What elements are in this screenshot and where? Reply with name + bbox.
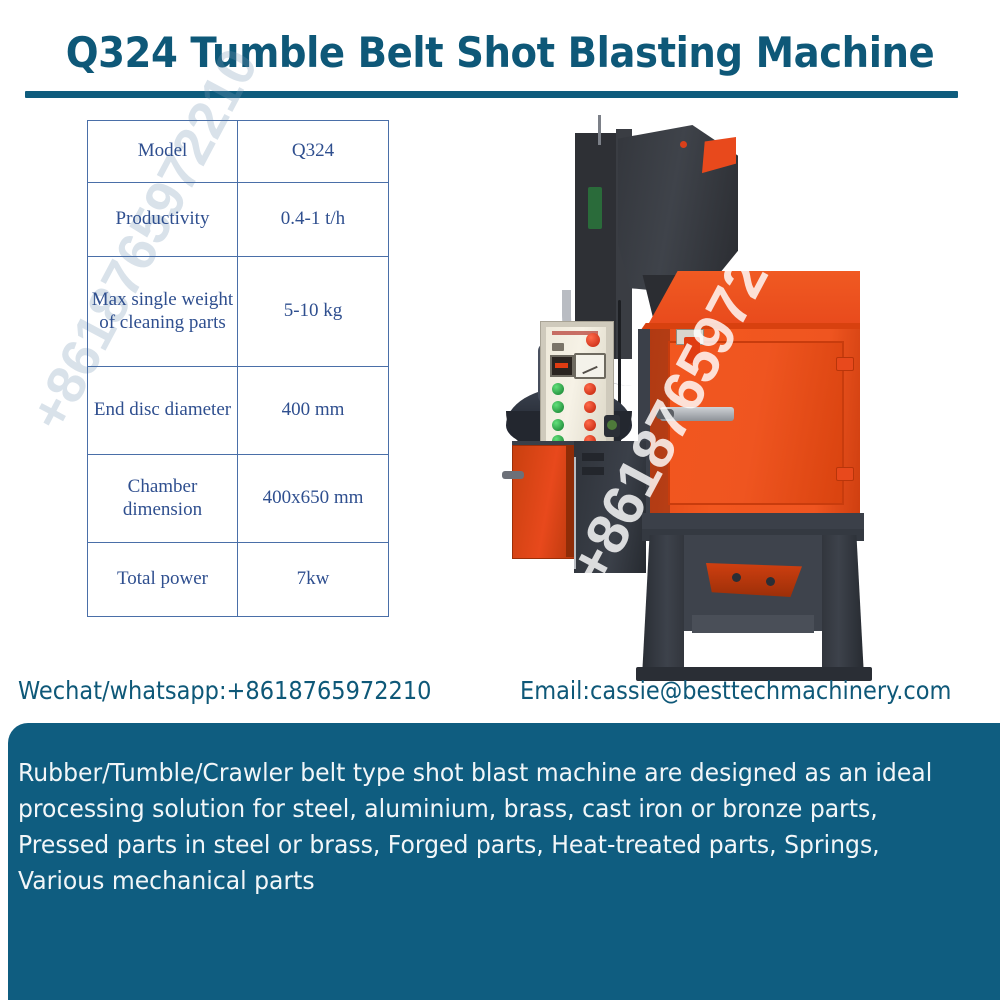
table-row: Model Q324 — [88, 121, 389, 183]
table-row: Chamber dimension 400x650 mm — [88, 455, 389, 543]
spec-value: 5-10 kg — [238, 257, 389, 367]
green-button-icon — [552, 419, 564, 431]
contact-line: Wechat/whatsapp:+8618765972210 Email:cas… — [0, 676, 1000, 716]
spec-value: 400x650 mm — [238, 455, 389, 543]
stand-leg-right-icon — [822, 535, 864, 677]
mid-column-vent-icon — [582, 453, 604, 461]
description-text: Rubber/Tumble/Crawler belt type shot bla… — [18, 755, 967, 899]
hood-indicator-icon — [680, 141, 687, 148]
stand-back-ledge-icon — [692, 615, 814, 633]
side-access-edge-icon — [566, 445, 574, 557]
spec-label: Chamber dimension — [88, 455, 238, 543]
spec-value: 400 mm — [238, 367, 389, 455]
title-divider-rule — [25, 91, 958, 98]
spec-value: 0.4-1 t/h — [238, 183, 389, 257]
mid-column-wire-icon — [574, 457, 576, 569]
chute-bolt-icon — [766, 577, 775, 586]
green-button-icon — [552, 401, 564, 413]
digital-display-icon — [550, 355, 574, 377]
table-row: Total power 7kw — [88, 543, 389, 617]
chute-bolt-icon — [732, 573, 741, 582]
spec-value: 7kw — [238, 543, 389, 617]
emergency-stop-button-icon — [586, 333, 600, 347]
elevator-rod-icon — [598, 115, 601, 145]
stand-leg-left-icon — [642, 535, 684, 677]
spec-label: Max single weight of cleaning parts — [88, 257, 238, 367]
product-spec-sheet: Q324 Tumble Belt Shot Blasting Machine +… — [0, 0, 1000, 1000]
control-panel-logo-icon — [552, 343, 564, 351]
spec-value: Q324 — [238, 121, 389, 183]
description-panel: Rubber/Tumble/Crawler belt type shot bla… — [8, 723, 1000, 1000]
door-latch-top-icon — [684, 337, 700, 363]
mid-column-vent-icon — [582, 467, 604, 475]
spec-label: Productivity — [88, 183, 238, 257]
panel-pivot-indicator-icon — [607, 420, 617, 430]
red-button-icon — [584, 401, 596, 413]
spec-label: End disc diameter — [88, 367, 238, 455]
product-photo — [470, 115, 870, 675]
green-button-icon — [552, 383, 564, 395]
page-title: Q324 Tumble Belt Shot Blasting Machine — [40, 28, 960, 77]
contact-messaging: Wechat/whatsapp:+8618765972210 — [18, 676, 431, 705]
analog-meter-icon — [574, 353, 606, 379]
table-row: End disc diameter 400 mm — [88, 367, 389, 455]
spec-label: Total power — [88, 543, 238, 617]
red-button-icon — [584, 383, 596, 395]
spec-label: Model — [88, 121, 238, 183]
blast-chamber-door-icon — [668, 341, 844, 505]
elevator-junction-box-icon — [588, 187, 602, 229]
door-latch-grip-icon — [656, 409, 674, 419]
door-hinge-icon — [836, 357, 854, 371]
red-button-icon — [584, 419, 596, 431]
table-row: Productivity 0.4-1 t/h — [88, 183, 389, 257]
side-access-latch-icon — [502, 471, 524, 479]
discharge-chute-icon — [706, 563, 802, 597]
contact-email: Email:cassie@besttechmachinery.com — [520, 676, 951, 705]
specification-table: Model Q324 Productivity 0.4-1 t/h Max si… — [87, 120, 389, 617]
door-hinge-icon — [836, 467, 854, 481]
table-row: Max single weight of cleaning parts 5-10… — [88, 257, 389, 367]
